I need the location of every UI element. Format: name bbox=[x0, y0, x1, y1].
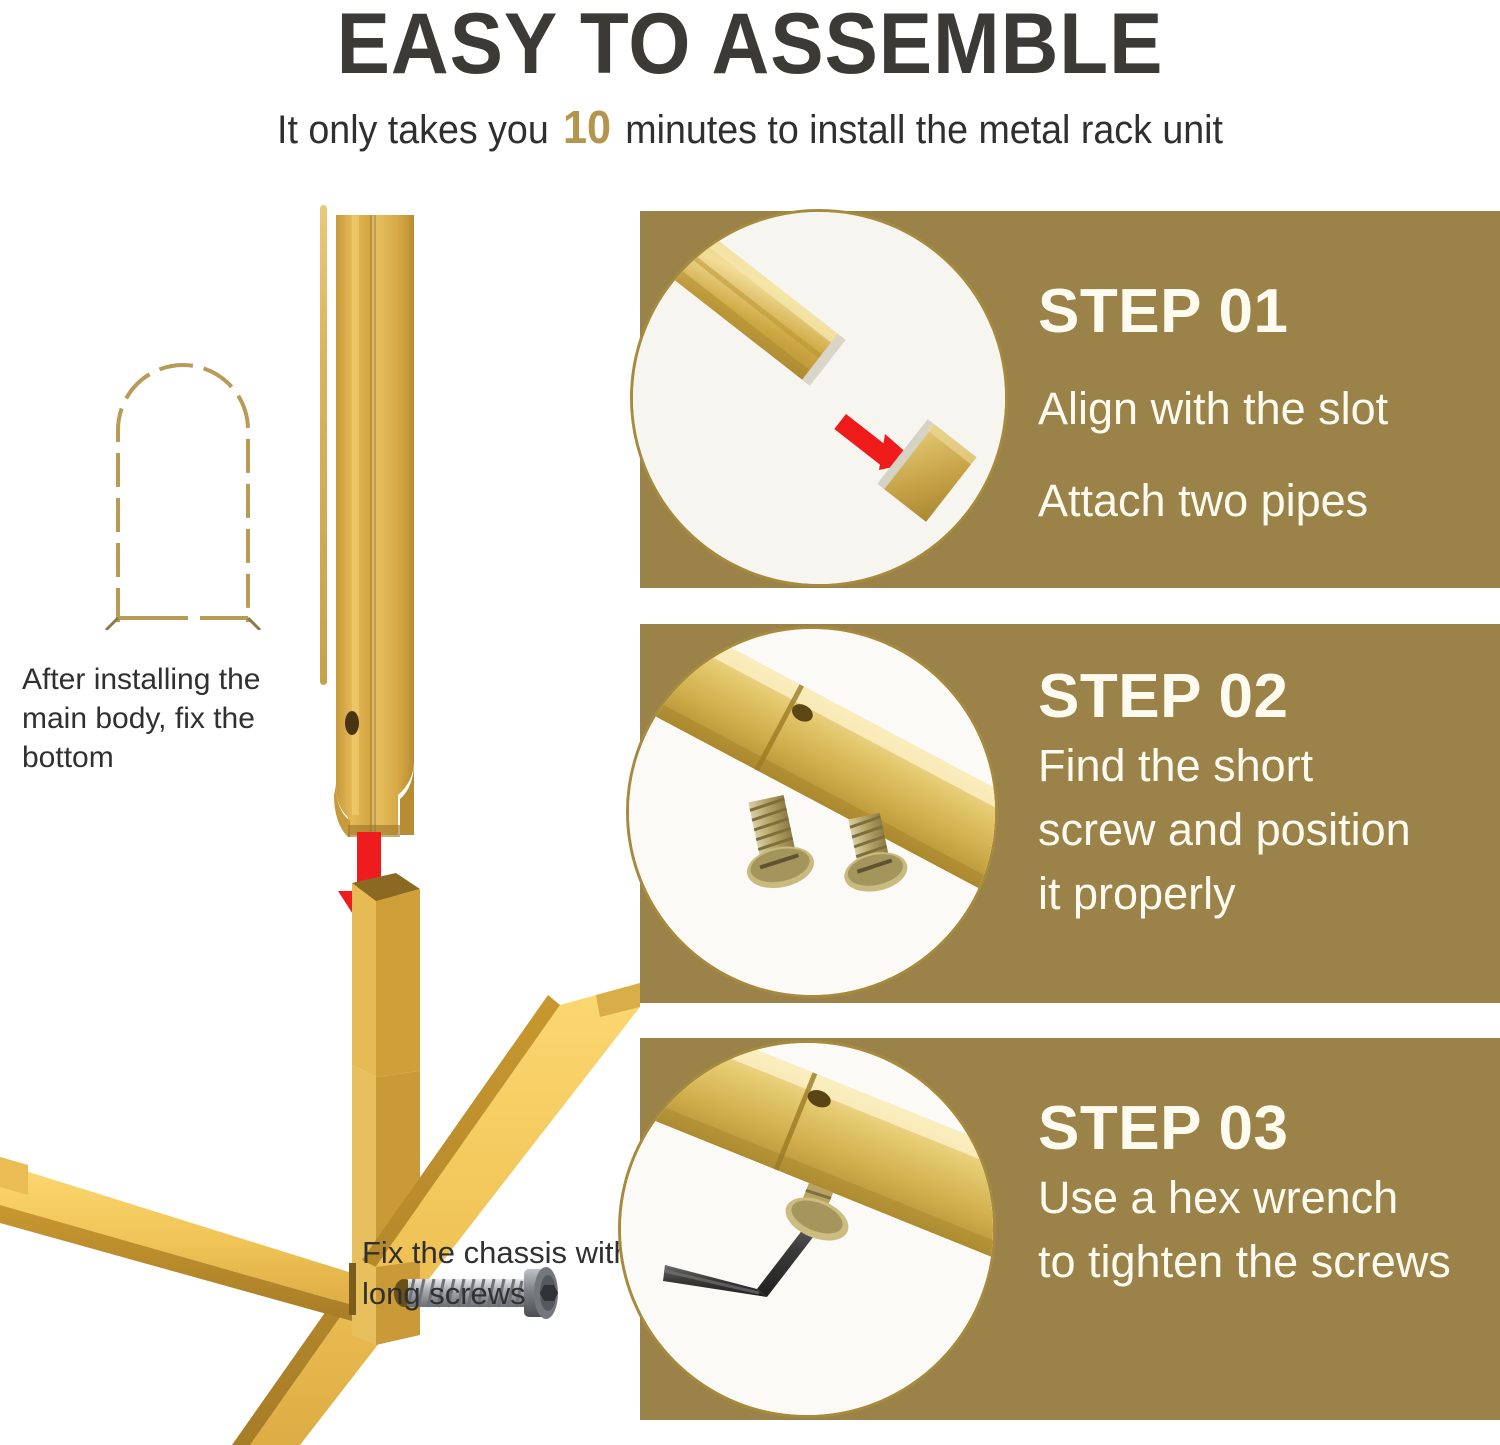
pipe-alignment-photo-icon bbox=[630, 209, 1008, 587]
subtitle-minutes-highlight: 10 bbox=[559, 101, 615, 153]
subtitle-text-before: It only takes you bbox=[277, 108, 549, 152]
chassis-caption: Fix the chassis with long screws bbox=[362, 1232, 652, 1314]
subtitle-text-after: minutes to install the metal rack unit bbox=[625, 108, 1223, 152]
step-3-title: STEP 03 bbox=[1038, 1096, 1498, 1162]
page-title: EASY TO ASSEMBLE bbox=[53, 0, 1448, 90]
step-2-desc-line1: Find the short bbox=[1038, 738, 1493, 794]
step-3-desc-line2: to tighten the screws bbox=[1038, 1234, 1498, 1290]
step-1-text: STEP 01 Align with the slot Attach two p… bbox=[1038, 279, 1488, 529]
step-2-desc-line2: screw and position bbox=[1038, 802, 1493, 858]
page-subtitle: It only takes you 10 minutes to install … bbox=[45, 104, 1455, 153]
step-2-title: STEP 02 bbox=[1038, 664, 1493, 730]
step-1-title: STEP 01 bbox=[1038, 279, 1488, 345]
step-panel-3: STEP 03 Use a hex wrench to tighten the … bbox=[640, 1038, 1500, 1420]
step-panel-1: STEP 01 Align with the slot Attach two p… bbox=[640, 211, 1500, 588]
step-3-desc-line1: Use a hex wrench bbox=[1038, 1170, 1498, 1226]
step-2-desc-line3: it properly bbox=[1038, 866, 1493, 922]
step-panel-2: STEP 02 Find the short screw and positio… bbox=[640, 624, 1500, 1003]
header: EASY TO ASSEMBLE It only takes you 10 mi… bbox=[0, 0, 1500, 180]
short-screws-photo-icon bbox=[626, 626, 998, 998]
step-2-text: STEP 02 Find the short screw and positio… bbox=[1038, 664, 1493, 922]
step-3-text: STEP 03 Use a hex wrench to tighten the … bbox=[1038, 1096, 1498, 1290]
step-1-desc-line1: Align with the slot bbox=[1038, 381, 1488, 437]
step-1-desc-line2: Attach two pipes bbox=[1038, 473, 1488, 529]
hex-wrench-photo-icon bbox=[618, 1040, 996, 1418]
